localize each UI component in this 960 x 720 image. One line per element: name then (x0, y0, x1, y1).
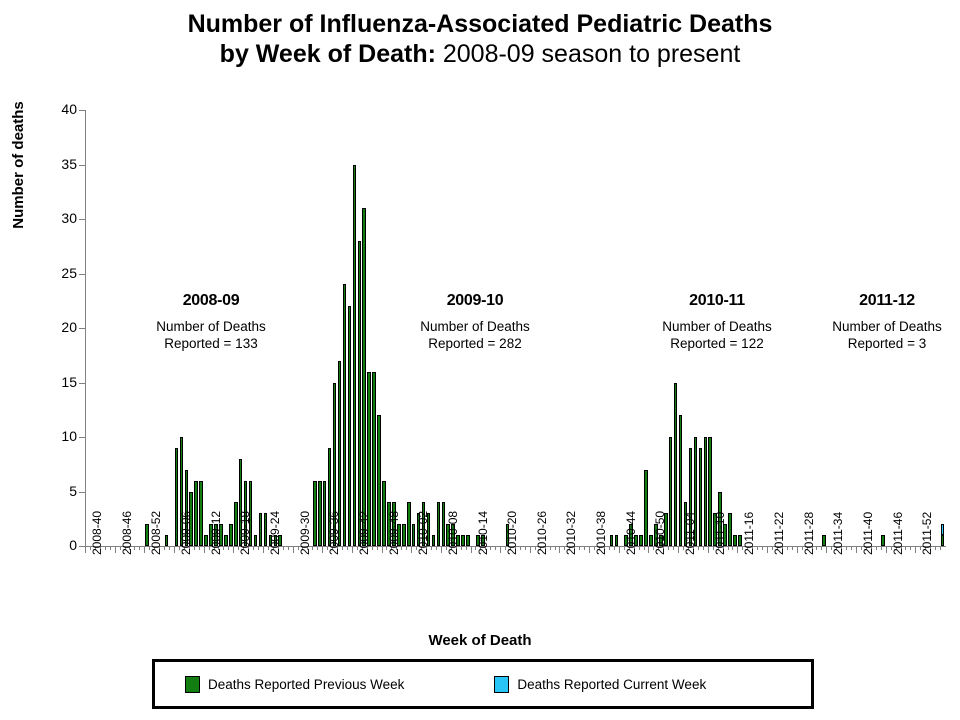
y-axis-tick (79, 492, 85, 493)
x-axis-tick (846, 546, 847, 550)
x-axis-tick (614, 546, 615, 550)
bar-previous-week[interactable] (259, 513, 263, 546)
x-axis-tick (915, 546, 916, 553)
x-axis-tick (461, 546, 462, 550)
x-axis-tick (144, 546, 145, 553)
bar-previous-week[interactable] (234, 502, 238, 546)
x-axis-tick-label: 2011-34 (831, 512, 845, 555)
x-axis-tick (639, 546, 640, 550)
bar-previous-week[interactable] (432, 535, 436, 546)
bar-previous-week[interactable] (466, 535, 470, 546)
x-axis-tick (312, 546, 313, 550)
y-axis-tick-label: 15 (37, 374, 77, 390)
bar-previous-week[interactable] (264, 513, 268, 546)
x-axis-tick (737, 546, 738, 553)
x-axis-tick-label: 2009-24 (268, 511, 282, 555)
x-axis-tick (703, 546, 704, 550)
bar-previous-week[interactable] (224, 535, 228, 546)
x-axis-tick (648, 546, 649, 553)
x-axis-tick (411, 546, 412, 553)
bar-previous-week[interactable] (194, 481, 198, 546)
x-axis-tick (673, 546, 674, 550)
x-axis-tick-label: 2010-26 (535, 511, 549, 555)
legend-item-current-week[interactable]: Deaths Reported Current Week (494, 676, 706, 693)
legend-item-previous-week[interactable]: Deaths Reported Previous Week (185, 676, 404, 693)
y-axis-tick (79, 165, 85, 166)
y-axis-tick (79, 110, 85, 111)
x-axis-tick-label: 2009-12 (209, 511, 223, 555)
bar-previous-week[interactable] (382, 481, 386, 546)
y-axis-tick (79, 274, 85, 275)
bar-previous-week[interactable] (377, 415, 381, 546)
x-axis-tick (559, 546, 560, 553)
x-axis-tick (500, 546, 501, 553)
x-axis-tick-label: 2011-52 (920, 512, 934, 555)
x-axis-tick-label: 2010-20 (505, 511, 519, 555)
y-axis-tick (79, 328, 85, 329)
bar-previous-week[interactable] (822, 535, 826, 546)
season-count-line1: Number of Deaths (370, 319, 580, 336)
bar-previous-week[interactable] (402, 524, 406, 546)
bar-previous-week[interactable] (728, 513, 732, 546)
x-axis-tick (139, 546, 140, 550)
x-axis-tick (169, 546, 170, 550)
x-axis-tick (347, 546, 348, 550)
bar-previous-week[interactable] (353, 165, 357, 547)
x-axis-tick (223, 546, 224, 550)
x-axis-tick (728, 546, 729, 550)
x-axis-tick (876, 546, 877, 550)
bar-previous-week[interactable] (165, 535, 169, 546)
bar-previous-week[interactable] (362, 208, 366, 546)
y-axis-title: Number of deaths (10, 65, 27, 265)
bar-previous-week[interactable] (461, 535, 465, 546)
bar-previous-week[interactable] (175, 448, 179, 546)
x-axis-tick (910, 546, 911, 550)
bar-previous-week[interactable] (318, 481, 322, 546)
x-axis-tick-label: 2008-46 (120, 511, 134, 555)
legend-swatch-green-icon (185, 676, 200, 693)
x-axis-tick (174, 546, 175, 553)
x-axis-tick (194, 546, 195, 550)
x-axis-tick (401, 546, 402, 550)
x-axis-tick (851, 546, 852, 550)
title-line-2-bold: by Week of Death: (220, 40, 436, 68)
x-axis-tick-label: 2011-28 (802, 512, 816, 555)
x-axis-tick (940, 546, 941, 550)
x-axis-tick-label: 2010-02 (416, 511, 430, 555)
x-axis-tick (708, 546, 709, 553)
title-line-2-normal: 2008-09 season to present (436, 40, 740, 68)
y-axis-tick (79, 437, 85, 438)
x-axis-tick-label: 2009-18 (238, 511, 252, 555)
season-annotation-2008-09: 2008-09 Number of Deaths Reported = 133 (106, 292, 316, 353)
x-axis-tick-label: 2010-50 (653, 511, 667, 555)
x-axis-tick (495, 546, 496, 550)
x-axis-tick-label: 2011-40 (861, 512, 875, 555)
bar-previous-week[interactable] (372, 372, 376, 546)
x-axis-tick-label: 2009-48 (387, 511, 401, 555)
x-axis-tick (441, 546, 442, 553)
title-line-1: Number of Influenza-Associated Pediatric… (0, 10, 960, 40)
bar-previous-week[interactable] (881, 535, 885, 546)
bar-previous-week[interactable] (699, 448, 703, 546)
x-axis-tick (342, 546, 343, 550)
bar-previous-week[interactable] (343, 284, 347, 546)
x-axis-tick (406, 546, 407, 550)
x-axis-tick-label: 2011-16 (742, 512, 756, 555)
x-axis-tick (263, 546, 264, 553)
x-axis-tick-label: 2010-32 (564, 511, 578, 555)
legend-swatch-cyan-icon (494, 676, 509, 693)
y-axis-tick-label: 10 (37, 428, 77, 444)
legend-label-previous-week: Deaths Reported Previous Week (208, 677, 404, 692)
y-axis-tick-label: 35 (37, 156, 77, 172)
x-axis-tick (253, 546, 254, 550)
x-axis-tick-label: 2010-08 (446, 511, 460, 555)
x-axis-tick (110, 546, 111, 550)
x-axis-tick (619, 546, 620, 553)
x-axis-tick (698, 546, 699, 550)
x-axis-tick (204, 546, 205, 553)
season-count-line1: Number of Deaths (106, 319, 316, 336)
season-count-line2: Reported = 3 (782, 336, 960, 353)
bar-previous-week[interactable] (615, 535, 619, 546)
y-axis-tick (79, 383, 85, 384)
x-axis-tick (490, 546, 491, 550)
season-name: 2008-09 (106, 292, 316, 310)
x-axis-tick (233, 546, 234, 553)
bar-previous-week[interactable] (669, 437, 673, 546)
y-axis-tick-label: 25 (37, 265, 77, 281)
x-axis-tick (555, 546, 556, 550)
y-axis-tick-label: 40 (37, 101, 77, 117)
x-axis-tick-label: 2008-52 (149, 511, 163, 555)
bar-previous-week[interactable] (199, 481, 203, 546)
bar-previous-week[interactable] (204, 535, 208, 546)
x-axis-tick (856, 546, 857, 553)
bar-previous-week[interactable] (704, 437, 708, 546)
x-axis-tick (293, 546, 294, 553)
x-axis-tick (372, 546, 373, 550)
chart-page: Number of Influenza-Associated Pediatric… (0, 0, 960, 720)
x-axis-tick (377, 546, 378, 550)
bar-current-week[interactable] (941, 524, 945, 535)
x-axis-tick (525, 546, 526, 550)
x-axis-tick-label: 2011-22 (772, 512, 786, 555)
y-axis-tick-label: 20 (37, 319, 77, 335)
x-axis-tick-label: 2010-38 (594, 511, 608, 555)
x-axis-tick (471, 546, 472, 553)
x-axis-tick-label: 2009-30 (298, 511, 312, 555)
x-axis-tick (352, 546, 353, 553)
x-axis-tick (382, 546, 383, 553)
y-axis-tick-label: 30 (37, 210, 77, 226)
x-axis-tick (288, 546, 289, 550)
x-axis-tick (757, 546, 758, 550)
x-axis-tick (668, 546, 669, 550)
x-axis-tick-label: 2009-36 (327, 511, 341, 555)
season-annotation-2011-12: 2011-12 Number of Deaths Reported = 3 (782, 292, 960, 353)
x-axis-tick-label: 2008-40 (90, 511, 104, 555)
bar-previous-week[interactable] (229, 524, 233, 546)
bar-previous-week[interactable] (437, 502, 441, 546)
season-count-line2: Reported = 282 (370, 336, 580, 353)
x-axis-tick (283, 546, 284, 550)
bar-previous-week[interactable] (254, 535, 258, 546)
x-axis-tick (164, 546, 165, 550)
season-count-line2: Reported = 133 (106, 336, 316, 353)
bar-previous-week[interactable] (679, 415, 683, 546)
bar-previous-week[interactable] (708, 437, 712, 546)
x-axis-tick (520, 546, 521, 550)
x-axis-tick (115, 546, 116, 553)
x-axis-tick (105, 546, 106, 550)
bar-previous-week[interactable] (323, 481, 327, 546)
x-axis-tick (228, 546, 229, 550)
x-axis-tick (530, 546, 531, 553)
x-axis-tick (762, 546, 763, 550)
x-axis-tick (767, 546, 768, 553)
x-axis-tick (199, 546, 200, 550)
y-axis-tick-label: 0 (37, 537, 77, 553)
x-axis-tick (579, 546, 580, 550)
x-axis-tick (436, 546, 437, 550)
x-axis-tick (816, 546, 817, 550)
season-name: 2009-10 (370, 292, 580, 310)
season-name: 2011-12 (782, 292, 960, 310)
x-axis-tick-label: 2009-06 (179, 511, 193, 555)
x-axis-tick (317, 546, 318, 550)
x-axis-tick (826, 546, 827, 553)
x-axis-tick (821, 546, 822, 550)
x-axis-tick (787, 546, 788, 550)
bar-previous-week[interactable] (644, 470, 648, 546)
x-axis-tick (935, 546, 936, 550)
x-axis-tick-label: 2010-44 (624, 511, 638, 555)
x-axis-tick (797, 546, 798, 553)
x-axis-tick-label: 2009-42 (357, 511, 371, 555)
x-axis-tick (466, 546, 467, 550)
x-axis-tick (431, 546, 432, 550)
legend-label-current-week: Deaths Reported Current Week (517, 677, 706, 692)
x-axis-tick (584, 546, 585, 550)
title-line-2: by Week of Death: 2008-09 season to pres… (0, 40, 960, 70)
chart-legend: Deaths Reported Previous Week Deaths Rep… (152, 659, 814, 709)
x-axis-tick (792, 546, 793, 550)
bar-previous-week[interactable] (442, 502, 446, 546)
x-axis-tick-label: 2011-10 (713, 512, 727, 555)
x-axis-tick (85, 546, 86, 553)
y-axis-tick-label: 5 (37, 483, 77, 499)
x-axis-tick (678, 546, 679, 553)
y-axis-tick (79, 219, 85, 220)
bar-previous-week[interactable] (941, 535, 945, 546)
x-axis-tick (881, 546, 882, 550)
x-axis-tick-label: 2011-04 (683, 512, 697, 555)
x-axis-tick (258, 546, 259, 550)
x-axis-tick (134, 546, 135, 550)
x-axis-tick (905, 546, 906, 550)
bar-previous-week[interactable] (348, 306, 352, 546)
bar-previous-week[interactable] (358, 241, 362, 546)
bar-previous-week[interactable] (412, 524, 416, 546)
bar-previous-week[interactable] (313, 481, 317, 546)
season-count-line1: Number of Deaths (782, 319, 960, 336)
x-axis-tick (886, 546, 887, 553)
x-axis-tick (589, 546, 590, 553)
bar-previous-week[interactable] (610, 535, 614, 546)
bar-previous-week[interactable] (674, 383, 678, 547)
bar-previous-week[interactable] (639, 535, 643, 546)
bar-previous-week[interactable] (733, 535, 737, 546)
x-axis-title: Week of Death (0, 632, 960, 649)
x-axis-tick (644, 546, 645, 550)
page-title: Number of Influenza-Associated Pediatric… (0, 10, 960, 69)
x-axis-tick (732, 546, 733, 550)
x-axis-tick (322, 546, 323, 553)
season-annotation-2009-10: 2009-10 Number of Deaths Reported = 282 (370, 292, 580, 353)
bar-previous-week[interactable] (407, 502, 411, 546)
x-axis-tick (609, 546, 610, 550)
bar-previous-week[interactable] (145, 524, 149, 546)
x-axis-tick (550, 546, 551, 550)
x-axis-tick-label: 2011-46 (891, 512, 905, 555)
x-axis-tick-label: 2010-14 (476, 511, 490, 555)
